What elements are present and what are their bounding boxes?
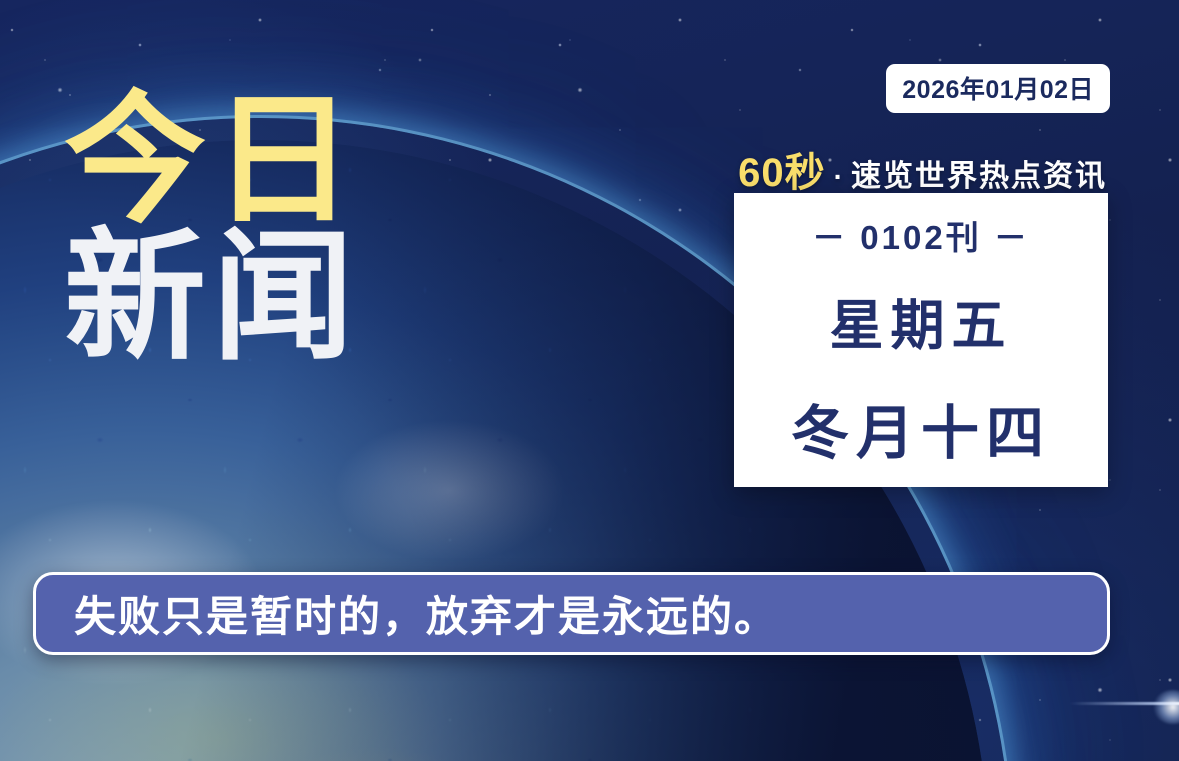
tagline-text: 速览世界热点资讯: [851, 151, 1107, 195]
title-line-today: 今日: [64, 96, 484, 227]
lens-flare-streak-icon: [1069, 702, 1179, 705]
tagline: 60秒 · 速览世界热点资讯: [738, 140, 1107, 198]
lunar-date-label: 冬月十四: [791, 386, 1051, 470]
quote-text: 失败只是暂时的，放弃才是永远的。: [36, 583, 778, 644]
news-poster: 今日 新闻 2026年01月02日 60秒 · 速览世界热点资讯 － 0102刊…: [0, 0, 1179, 761]
issue-number: － 0102刊 －: [812, 211, 1030, 259]
title-line-news: 新闻: [64, 233, 484, 364]
weekday-label: 星期五: [830, 281, 1013, 360]
tagline-seconds: 60秒: [738, 140, 826, 198]
info-card: － 0102刊 － 星期五 冬月十四: [734, 193, 1108, 487]
quote-banner: 失败只是暂时的，放弃才是永远的。: [33, 572, 1110, 655]
tagline-separator: ·: [834, 161, 843, 193]
page-title: 今日 新闻: [64, 96, 484, 363]
date-badge: 2026年01月02日: [886, 64, 1110, 113]
